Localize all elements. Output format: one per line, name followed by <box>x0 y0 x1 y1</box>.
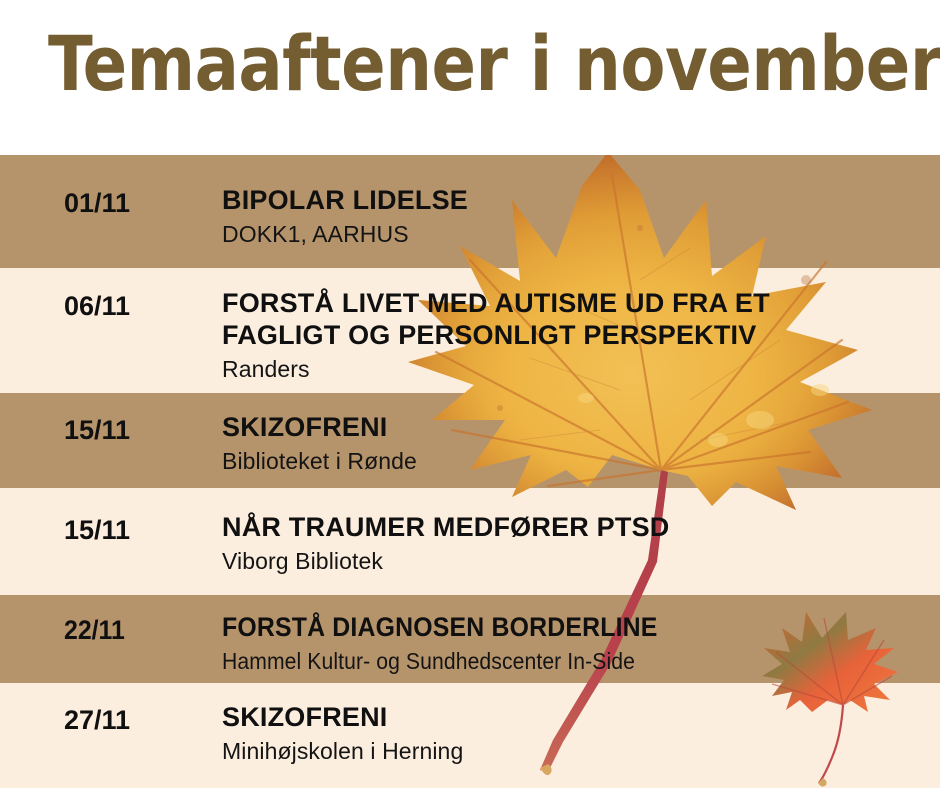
event-body: NÅR TRAUMER MEDFØRER PTSD Viborg Bibliot… <box>222 512 922 575</box>
event-title: SKIZOFRENI <box>222 702 922 734</box>
list-item[interactable]: 22/11 FORSTÅ DIAGNOSEN BORDERLINE Hammel… <box>0 595 940 683</box>
event-venue: Biblioteket i Rønde <box>222 448 922 476</box>
event-title: FORSTÅ LIVET MED AUTISME UD FRA ET FAGLI… <box>222 288 922 352</box>
event-poster: Temaaftener i november 01/11 BIPOLAR LID… <box>0 0 940 788</box>
event-date: 01/11 <box>64 188 130 219</box>
list-item[interactable]: 06/11 FORSTÅ LIVET MED AUTISME UD FRA ET… <box>0 268 940 393</box>
event-body: BIPOLAR LIDELSE DOKK1, AARHUS <box>222 185 922 248</box>
event-venue: Hammel Kultur- og Sundhedscenter In-Side <box>222 648 866 676</box>
event-venue: Randers <box>222 356 922 384</box>
event-body: SKIZOFRENI Biblioteket i Rønde <box>222 412 922 475</box>
list-item[interactable]: 27/11 SKIZOFRENI Minihøjskolen i Herning <box>0 683 940 788</box>
event-body: FORSTÅ LIVET MED AUTISME UD FRA ET FAGLI… <box>222 288 922 383</box>
event-title: BIPOLAR LIDELSE <box>222 185 922 217</box>
event-title: FORSTÅ DIAGNOSEN BORDERLINE <box>222 612 866 644</box>
page-title: Temaaftener i november <box>48 26 940 102</box>
event-venue: Viborg Bibliotek <box>222 548 922 576</box>
event-body: FORSTÅ DIAGNOSEN BORDERLINE Hammel Kultu… <box>222 612 922 675</box>
poster-header: Temaaftener i november <box>0 0 940 155</box>
event-title: NÅR TRAUMER MEDFØRER PTSD <box>222 512 922 544</box>
event-date: 15/11 <box>64 415 130 446</box>
event-venue: DOKK1, AARHUS <box>222 221 922 249</box>
event-date: 22/11 <box>64 615 125 646</box>
event-date: 15/11 <box>64 515 130 546</box>
event-date: 06/11 <box>64 291 130 322</box>
event-venue: Minihøjskolen i Herning <box>222 738 922 766</box>
event-body: SKIZOFRENI Minihøjskolen i Herning <box>222 702 922 765</box>
list-item[interactable]: 01/11 BIPOLAR LIDELSE DOKK1, AARHUS <box>0 155 940 268</box>
list-item[interactable]: 15/11 NÅR TRAUMER MEDFØRER PTSD Viborg B… <box>0 488 940 595</box>
event-date: 27/11 <box>64 705 130 736</box>
list-item[interactable]: 15/11 SKIZOFRENI Biblioteket i Rønde <box>0 393 940 488</box>
event-title: SKIZOFRENI <box>222 412 922 444</box>
